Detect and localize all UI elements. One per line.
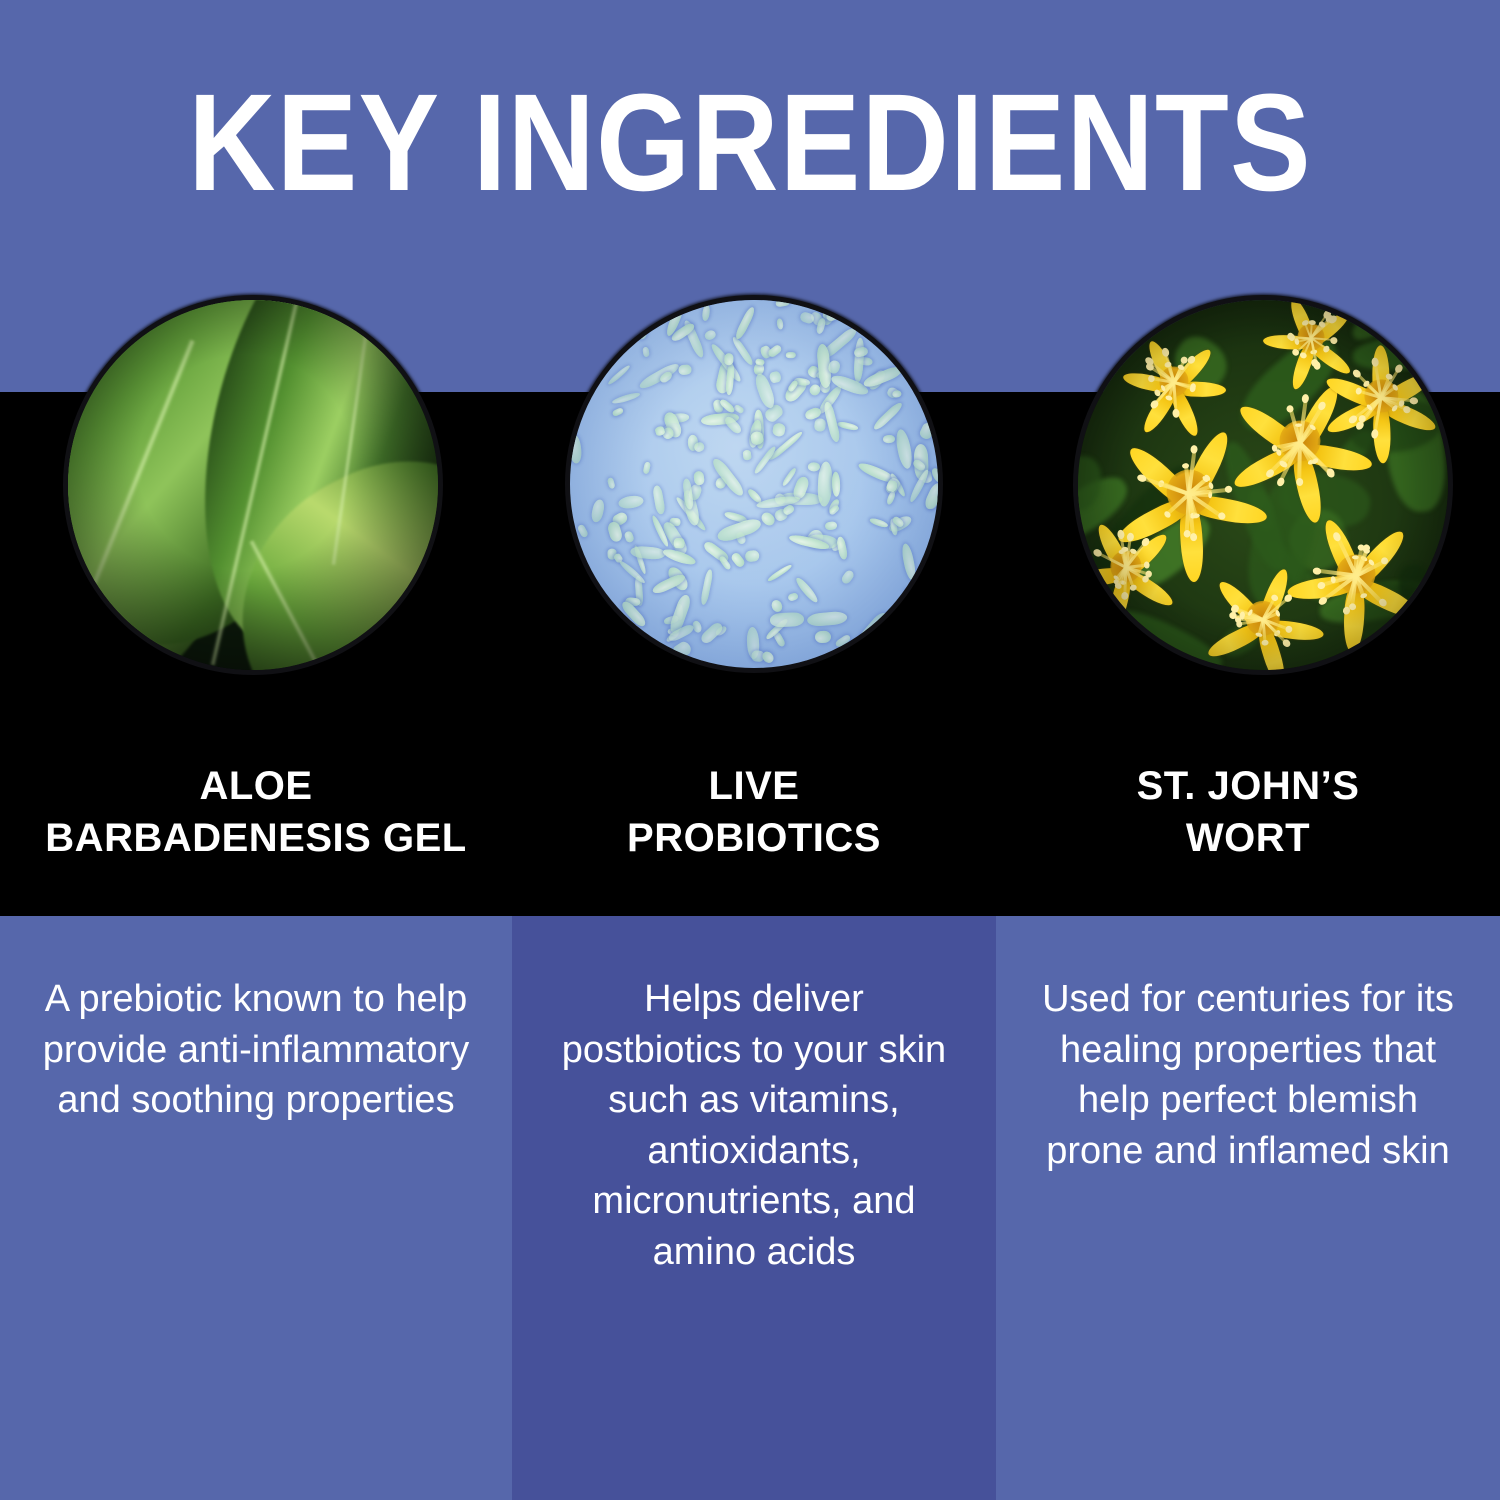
descriptions-row: A prebiotic known to help provide anti-i… <box>0 916 1500 1500</box>
description-text: Helps deliver postbiotics to your skin s… <box>512 974 996 1277</box>
vignette-overlay <box>570 300 938 668</box>
vignette-overlay <box>68 300 438 670</box>
aloe-leaves-photo <box>68 300 438 670</box>
probiotics-microscopy-photo <box>570 300 938 668</box>
st-johns-wort-flowers-photo <box>1078 300 1448 670</box>
ingredient-name-aloe: ALOE BARBADENESIS GEL <box>0 760 512 864</box>
ingredient-name-wort: ST. JOHN’S WORT <box>996 760 1500 864</box>
description-column-wort: Used for centuries for its healing prope… <box>996 916 1500 1500</box>
ingredient-names-row: ALOE BARBADENESIS GEL LIVE PROBIOTICS ST… <box>0 760 1500 910</box>
description-column-probiotics: Helps deliver postbiotics to your skin s… <box>512 916 996 1500</box>
key-ingredients-infographic: KEY INGREDIENTS <box>0 0 1500 1500</box>
wort-artwork <box>1078 300 1448 670</box>
description-column-aloe: A prebiotic known to help provide anti-i… <box>0 916 512 1500</box>
aloe-artwork <box>68 300 438 670</box>
ingredient-images-row <box>0 0 1500 720</box>
ingredient-name-probiotics: LIVE PROBIOTICS <box>512 760 996 864</box>
microscopy-artwork <box>570 300 938 668</box>
description-text: A prebiotic known to help provide anti-i… <box>0 974 512 1126</box>
description-text: Used for centuries for its healing prope… <box>996 974 1500 1176</box>
vignette-overlay <box>1078 300 1448 670</box>
